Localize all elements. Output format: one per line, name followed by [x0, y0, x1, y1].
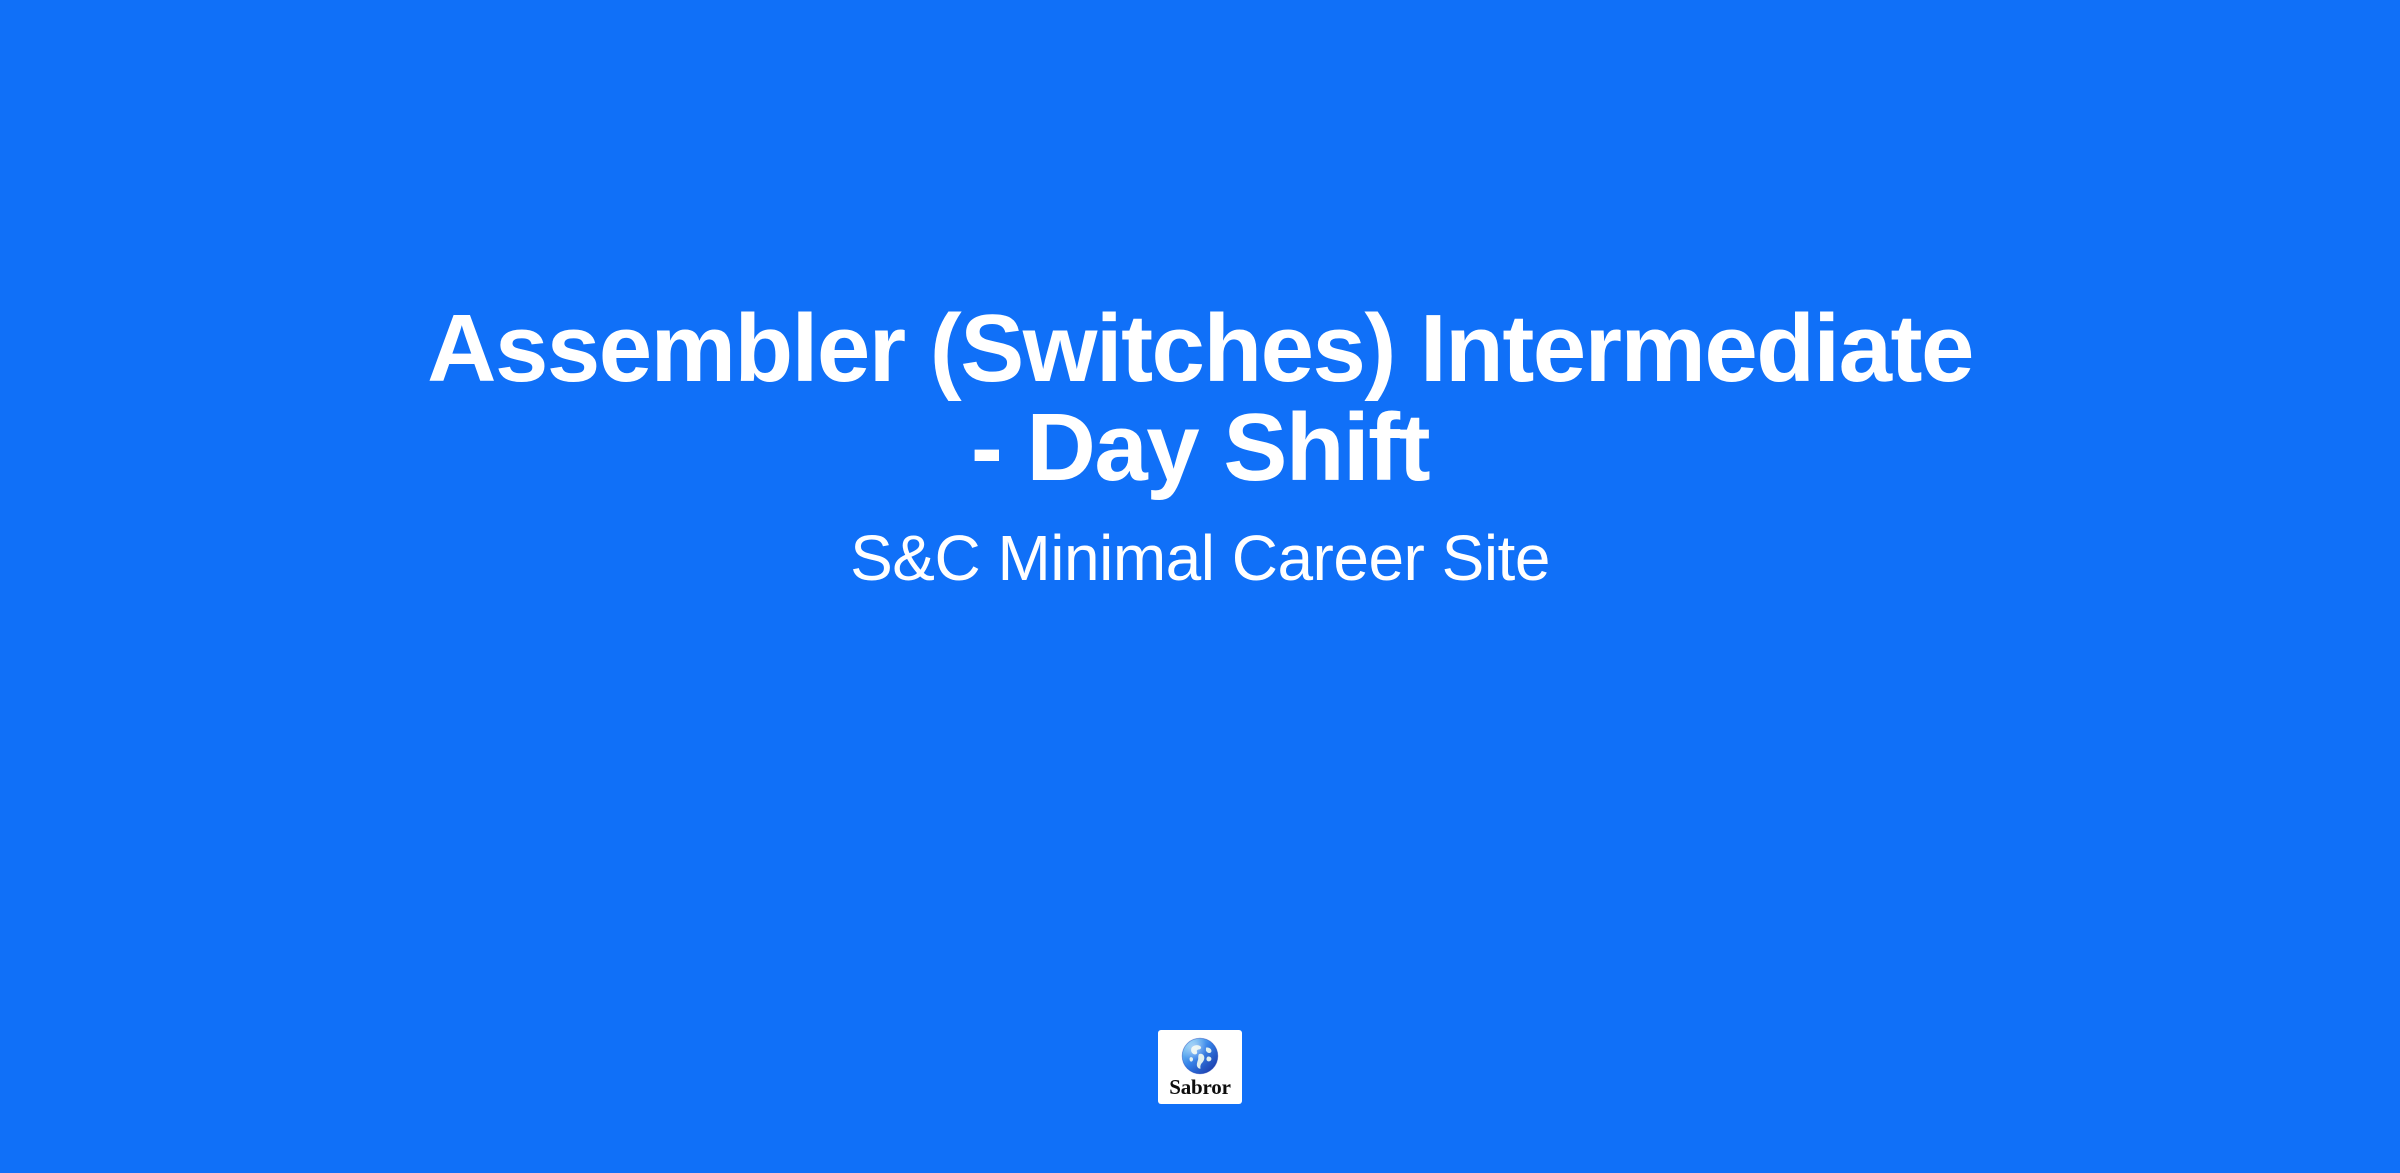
brand-name: Sabror: [1169, 1077, 1230, 1098]
page-subtitle: S&C Minimal Career Site: [850, 520, 1550, 597]
globe-icon: [1181, 1037, 1219, 1075]
hero-text-block: Assembler (Switches) Intermediate - Day …: [0, 300, 2400, 597]
brand-badge[interactable]: Sabror: [1158, 1030, 1242, 1104]
page-title: Assembler (Switches) Intermediate - Day …: [420, 300, 1980, 498]
job-share-card: Assembler (Switches) Intermediate - Day …: [0, 0, 2400, 1173]
